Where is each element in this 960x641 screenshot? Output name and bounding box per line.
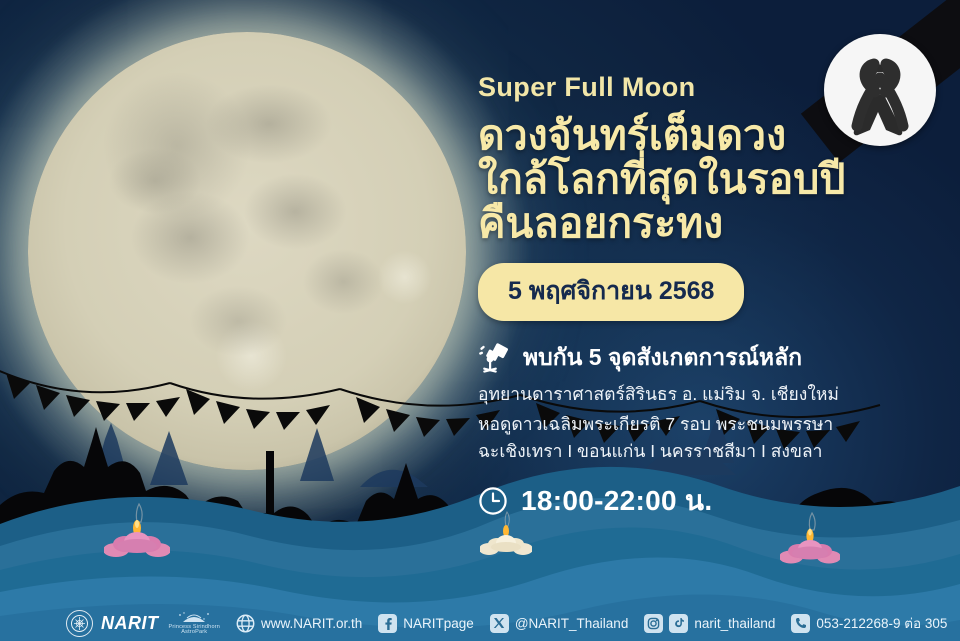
observation-header: พบกัน 5 จุดสังเกตการณ์หลัก [478,340,948,376]
footer-website-label: www.NARIT.or.th [261,616,362,631]
footer-item-phone[interactable]: 053-212268-9 ต่อ 305 [791,612,947,634]
footer-item-social[interactable]: narit_thailand [644,614,775,633]
phone-icon [791,614,810,633]
headline-line-1: ดวงจันทร์เต็มดวง [478,114,948,158]
footer-x-label: @NARIT_Thailand [515,616,629,631]
footer-item-website[interactable]: www.NARIT.or.th [236,614,362,633]
footer-phone-label: 053-212268-9 ต่อ 305 [816,612,947,634]
poster-kicker: Super Full Moon [478,72,948,103]
headline-line-2: ใกล้โลกที่สุดในรอบปี [478,158,948,202]
footer-social-label: narit_thailand [694,616,775,631]
tiktok-icon [669,614,688,633]
poster-content: Super Full Moon ดวงจันทร์เต็มดวง ใกล้โลก… [478,72,948,523]
observation-title: พบกัน 5 จุดสังเกตการณ์หลัก [523,340,802,376]
page-title: ดวงจันทร์เต็มดวง ใกล้โลกที่สุดในรอบปี คื… [478,114,948,246]
poster-canvas: Super Full Moon ดวงจันทร์เต็มดวง ใกล้โลก… [0,0,960,641]
date-badge: 5 พฤศจิกายน 2568 [478,263,744,321]
royal-seal-logo [66,610,93,637]
astropark-logo: Princess Sirindhorn AstroPark [169,611,221,636]
astropark-line-2: AstroPark [181,630,207,636]
footer-item-facebook[interactable]: NARITpage [378,614,474,633]
krathong-lotus-left [104,498,170,575]
clock-icon [478,486,508,516]
observation-section: พบกัน 5 จุดสังเกตการณ์หลัก อุทยานดาราศาส… [478,340,948,463]
observation-line-3: ฉะเชิงเทรา I ขอนแก่น I นครราชสีมา I สงขล… [478,440,948,463]
globe-icon [236,614,255,633]
narit-wordmark: NARIT [101,613,159,634]
time-row: 18:00-22:00 น. [478,479,948,523]
instagram-icon [644,614,663,633]
headline-line-3: คืนลอยกระทง [478,202,948,246]
x-twitter-icon [490,614,509,633]
observation-line-2: หอดูดาวเฉลิมพระเกียรติ 7 รอบ พระชนมพรรษา [478,413,948,436]
footer-facebook-label: NARITpage [403,616,474,631]
telescope-icon [478,343,512,373]
footer-bar: NARIT Princess Sirindhorn AstroPark www. [0,605,960,641]
time-text: 18:00-22:00 น. [521,479,712,523]
facebook-icon [378,614,397,633]
footer-item-x[interactable]: @NARIT_Thailand [490,614,629,633]
observation-line-1: อุทยานดาราศาสตร์สิรินธร อ. แม่ริม จ. เชี… [478,383,948,406]
